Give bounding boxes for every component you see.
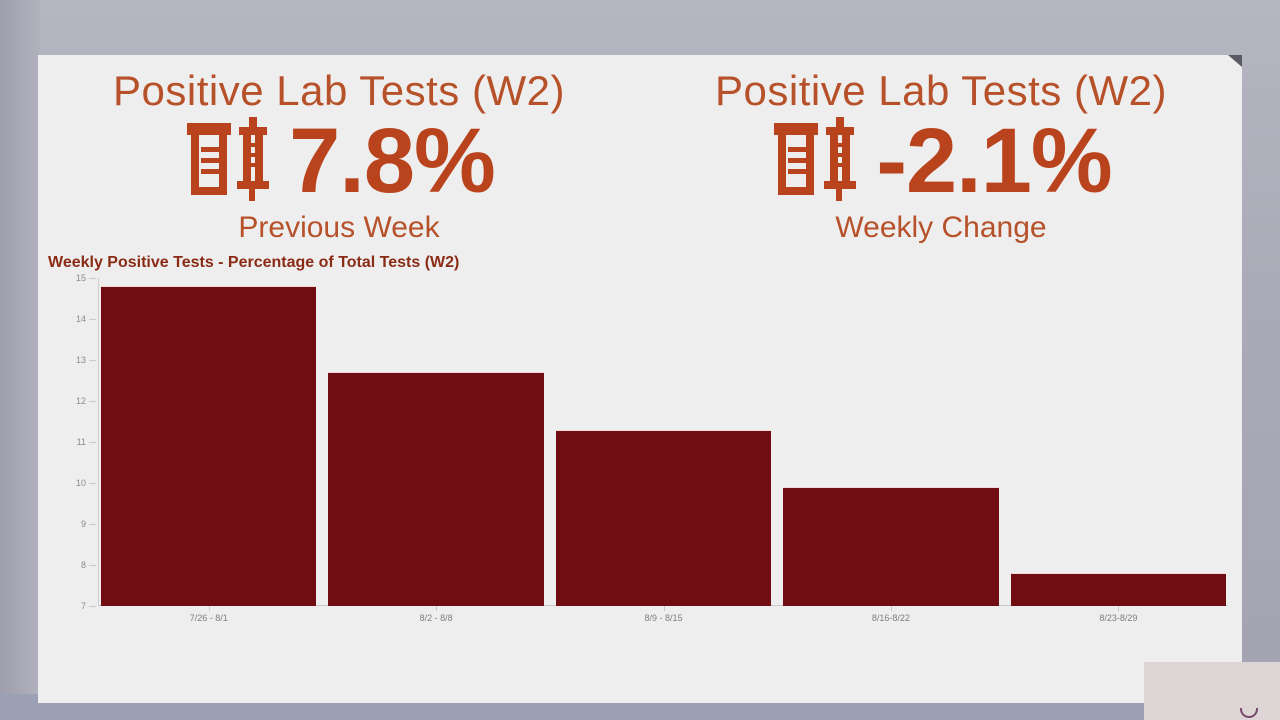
- bar[interactable]: [101, 286, 316, 606]
- bar-slot[interactable]: [101, 278, 316, 606]
- x-axis-tick-label: 8/9 - 8/15: [556, 606, 771, 630]
- y-axis-tick: 11: [77, 437, 86, 447]
- y-axis-tick: 14: [76, 314, 86, 324]
- y-axis-tick: 10: [76, 478, 86, 488]
- kpi-value: 7.8%: [289, 115, 495, 207]
- kpi-title: Positive Lab Tests (W2): [640, 69, 1242, 113]
- chart-title: Weekly Positive Tests - Percentage of To…: [38, 244, 1242, 278]
- x-axis-tick-label: 8/23-8/29: [1011, 606, 1226, 630]
- y-axis: 151413121110987: [56, 278, 98, 606]
- backdrop-left-band: [0, 0, 40, 720]
- bar[interactable]: [328, 372, 543, 606]
- y-axis-tick: 13: [76, 355, 86, 365]
- overlay-patch: [1144, 662, 1280, 720]
- bar-slot[interactable]: [1011, 278, 1226, 606]
- bar-slot[interactable]: [556, 278, 771, 606]
- x-axis-tick-label: 8/16-8/22: [783, 606, 998, 630]
- bar-slot[interactable]: [328, 278, 543, 606]
- y-axis-tick: 12: [76, 396, 86, 406]
- kpi-value: -2.1%: [876, 115, 1111, 207]
- kpi-row: Positive Lab Tests (W2): [38, 55, 1242, 244]
- plot-area: [99, 278, 1228, 606]
- kpi-card-previous-week: Positive Lab Tests (W2): [38, 69, 640, 244]
- kpi-caption: Previous Week: [38, 211, 640, 244]
- bar[interactable]: [1011, 573, 1226, 606]
- kpi-card-weekly-change: Positive Lab Tests (W2): [640, 69, 1242, 244]
- lab-vial-syringe-icon: [770, 117, 862, 206]
- kpi-main: -2.1%: [640, 115, 1242, 207]
- bar[interactable]: [783, 487, 998, 606]
- y-axis-tick: 15: [76, 273, 86, 283]
- bar-slot[interactable]: [783, 278, 998, 606]
- y-axis-tick: 7: [81, 601, 86, 611]
- overlay-patch-glyph-icon: [1240, 708, 1258, 718]
- kpi-title: Positive Lab Tests (W2): [38, 69, 640, 113]
- bar-chart: 151413121110987 7/26 - 8/18/2 - 8/88/9 -…: [56, 278, 1228, 630]
- kpi-main: 7.8%: [38, 115, 640, 207]
- dashboard-slide: Positive Lab Tests (W2): [38, 55, 1242, 703]
- x-axis-labels: 7/26 - 8/18/2 - 8/88/9 - 8/158/16-8/228/…: [99, 606, 1228, 630]
- y-axis-tick: 9: [81, 519, 86, 529]
- x-axis-tick-label: 8/2 - 8/8: [328, 606, 543, 630]
- y-axis-tick: 8: [81, 560, 86, 570]
- x-axis-tick-label: 7/26 - 8/1: [101, 606, 316, 630]
- lab-vial-syringe-icon: [183, 117, 275, 206]
- kpi-caption: Weekly Change: [640, 211, 1242, 244]
- bar[interactable]: [556, 430, 771, 606]
